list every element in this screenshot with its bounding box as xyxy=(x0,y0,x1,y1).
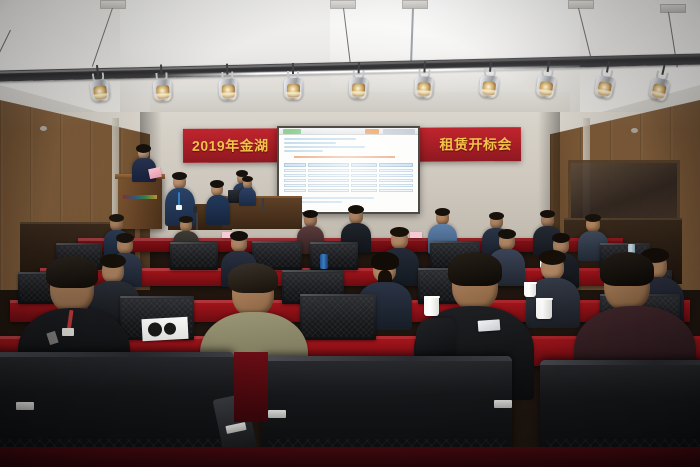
ceiling-anchor-plate xyxy=(402,0,428,9)
hair xyxy=(448,252,502,286)
hair xyxy=(600,252,654,286)
banner-text-right: 租赁开标会 xyxy=(439,134,521,154)
torso xyxy=(239,188,256,206)
hair xyxy=(585,214,601,222)
hair xyxy=(100,254,126,268)
audience-chair xyxy=(300,294,376,340)
torso xyxy=(206,195,230,225)
hair xyxy=(435,208,450,216)
hair xyxy=(46,256,98,288)
hair xyxy=(489,212,504,220)
microphone-stand xyxy=(262,198,264,212)
id-badge xyxy=(176,205,182,210)
hair xyxy=(230,231,248,241)
microphone-icon xyxy=(193,206,197,213)
toolbar-tab-group-icon xyxy=(383,129,415,134)
spreadsheet-header-row xyxy=(284,163,413,167)
hair xyxy=(371,252,399,270)
control-room-window xyxy=(568,160,680,222)
smartphone-on-table[interactable] xyxy=(478,319,501,332)
printed-document xyxy=(141,317,188,341)
id-badge xyxy=(62,328,74,336)
lanyard xyxy=(178,192,180,206)
speaker-podium xyxy=(118,175,162,229)
spreadsheet-doc-title xyxy=(294,156,395,158)
blue-thermos xyxy=(320,254,328,269)
audience-chair xyxy=(170,242,218,270)
audience-chair xyxy=(310,242,358,270)
paper-cup xyxy=(536,298,552,319)
toolbar-tab-orange-icon xyxy=(365,129,379,134)
hair xyxy=(136,144,151,153)
paper-cup xyxy=(524,282,536,297)
ceiling-sensor-icon xyxy=(631,128,638,133)
ceiling-sensor-icon xyxy=(40,126,47,131)
printed-document xyxy=(410,232,422,238)
hair xyxy=(228,263,278,293)
chair-gap-table xyxy=(234,352,268,422)
toolbar-tab-green-icon xyxy=(283,129,301,134)
armrest-cap xyxy=(268,410,286,418)
banner-text-left: 2019年金湖 xyxy=(183,135,269,155)
ceiling-anchor-plate xyxy=(568,0,594,9)
spreadsheet-body xyxy=(284,138,413,208)
hair xyxy=(109,214,124,222)
hair xyxy=(116,233,134,243)
hair xyxy=(540,210,555,218)
podium-emblem xyxy=(123,195,157,199)
hair xyxy=(179,216,193,223)
floor-strip xyxy=(0,447,700,467)
armrest-cap xyxy=(16,402,34,410)
paper-cup xyxy=(424,296,439,316)
hair xyxy=(303,210,318,218)
hair xyxy=(539,250,566,265)
arm xyxy=(416,318,456,360)
microphone-stand xyxy=(196,212,198,230)
ceiling-anchor-plate xyxy=(660,4,686,13)
hair xyxy=(552,233,570,243)
armrest-cap xyxy=(494,400,512,408)
hair xyxy=(172,172,187,180)
hair xyxy=(390,227,409,237)
hair xyxy=(210,180,224,188)
hair xyxy=(242,176,253,182)
hair xyxy=(498,229,516,239)
conference-room-photo: 2019年金湖 租赁开标会 xyxy=(0,0,700,467)
hair xyxy=(348,205,364,214)
